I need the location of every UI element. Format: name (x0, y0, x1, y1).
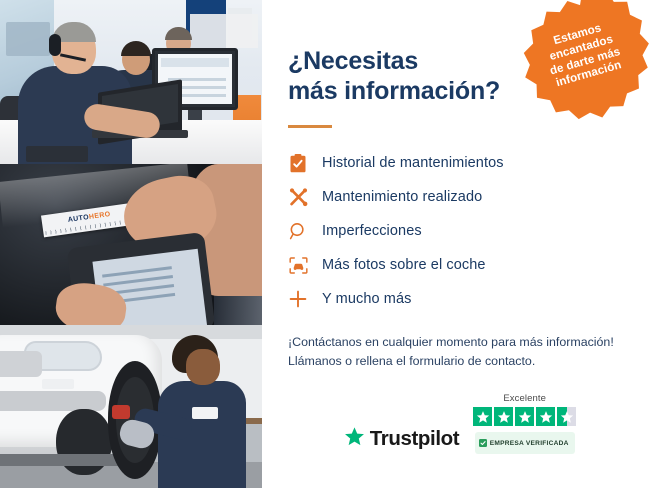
info-badge: Estamos encantados de darte más informac… (512, 0, 650, 125)
feature-label: Imperfecciones (322, 223, 422, 239)
feature-item-historial: Historial de mantenimientos (288, 146, 624, 180)
star-rating (473, 407, 576, 426)
title-divider (288, 125, 332, 128)
mechanic-tool (112, 405, 130, 419)
desk-tablet (26, 146, 88, 162)
car-grille-upper (0, 351, 42, 377)
trustpilot-star-icon (344, 426, 365, 452)
mechanic (156, 335, 246, 488)
workshop-wheel-photo (0, 325, 262, 488)
feature-item-mantenimiento: Mantenimiento realizado (288, 180, 624, 214)
star-1-icon (473, 407, 492, 426)
feature-list: Historial de mantenimientos Mantenimient… (288, 146, 624, 316)
tools-wrench-screwdriver-icon (288, 187, 308, 207)
verified-check-icon (479, 434, 487, 452)
promo-card: AUTOHERO (0, 0, 650, 488)
star-4-icon (536, 407, 555, 426)
status-badge: EMPRESA VERIFICADA (475, 432, 575, 454)
rating-label: Excelente (503, 393, 546, 404)
feature-label: Mantenimiento realizado (322, 189, 482, 205)
vehicle-inspection-ruler-photo: AUTOHERO (0, 164, 262, 325)
mechanic-shirt-logo (192, 407, 218, 419)
contact-text: ¡Contáctanos en cualquier momento para m… (288, 333, 624, 371)
shelf (190, 14, 258, 48)
badge-text: Estamos encantados de darte más informac… (526, 14, 641, 95)
car-photo-focus-icon (288, 255, 308, 275)
car-grille-lower (0, 391, 106, 411)
photo-column: AUTOHERO (0, 0, 262, 488)
car-lift-ramp (0, 454, 120, 466)
feature-label: Historial de mantenimientos (322, 155, 504, 171)
verified-label: EMPRESA VERIFICADA (490, 440, 569, 447)
feature-item-mas: Y mucho más (288, 282, 624, 316)
trustpilot-logo: Trustpilot (344, 426, 459, 454)
ruler-brand-auto: AUTO (67, 214, 89, 224)
trustpilot-widget[interactable]: Trustpilot Excelente (288, 393, 632, 454)
feature-label: Más fotos sobre el coche (322, 257, 486, 273)
call-center-agents-photo (0, 0, 262, 164)
trustpilot-wordmark: Trustpilot (370, 427, 459, 451)
plus-icon (288, 289, 308, 309)
ruler-brand-hero: HERO (89, 211, 112, 221)
page-title: ¿Necesitas más información? (288, 46, 528, 106)
car-plate (42, 379, 74, 389)
mechanic-face (186, 349, 220, 385)
star-2-icon (494, 407, 513, 426)
feature-item-imperfecciones: Imperfecciones (288, 214, 624, 248)
clipboard-check-icon (288, 153, 308, 173)
agent-2-hair (121, 41, 151, 56)
feature-label: Y mucho más (322, 291, 411, 307)
agent-1-headset (49, 34, 61, 56)
star-3-icon (515, 407, 534, 426)
magnifier-icon (288, 221, 308, 241)
star-5-half-icon (557, 407, 576, 426)
trustpilot-rating: Excelente EMPRESA VERIFICADA (473, 393, 576, 454)
content-panel: ¿Necesitas más información? Estamos enca… (262, 0, 650, 488)
feature-item-fotos: Más fotos sobre el coche (288, 248, 624, 282)
